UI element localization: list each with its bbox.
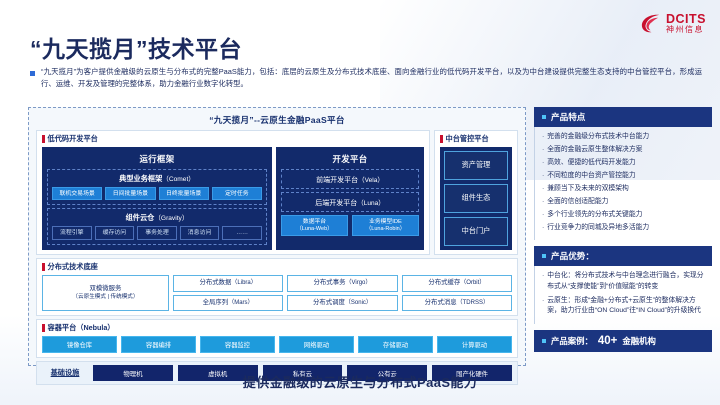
feature-text: 不同粒度的中台资产管控能力 (547, 171, 635, 182)
control-platform-section: 中台管控平台 资产管理 组件生态 中台门户 (434, 130, 518, 255)
backend-sub-row: 数据平台 （Luna-Web） 业务模型IDE （Luna-Robin） (281, 215, 419, 236)
comet-group: 典型业务框架（Comet） 联机交易场景 日间批量场景 日终批量场景 定时任务 (47, 169, 267, 205)
distributed-cache-cell[interactable]: 分布式缓存（Orbit） (402, 275, 512, 292)
feature-item: ·不同粒度的中台资产管控能力 (542, 171, 708, 182)
container-platform-section: 容器平台（Nebula） 镜像仓库 容器编排 容器监控 网络驱动 存储驱动 计算… (36, 319, 518, 358)
architecture-board: “九天揽月”--云原生金融PaaS平台 低代码开发平台 运行框架 (28, 107, 526, 366)
luna-robin-cn: 业务模型IDE (369, 219, 402, 225)
backend-dev-cn: 后端开发平台 (315, 200, 357, 207)
brand-name-en: DCITS (666, 13, 706, 26)
distributed-data-en: （Libra） (231, 279, 256, 287)
backend-dev-platform[interactable]: 后端开发平台（Luna） (281, 192, 419, 212)
comet-title: 典型业务框架（Comet） (52, 173, 262, 184)
bullet-dot-icon: · (542, 145, 544, 156)
distributed-schedule-cn: 分布式调度 (313, 299, 345, 308)
frontend-dev-cn: 前端开发平台 (316, 177, 358, 184)
feature-text: 行业竞争力的同城及异地多活能力 (547, 223, 649, 234)
feature-text: 完善的金融级分布式技术中台能力 (547, 132, 649, 143)
distributed-base-label: 分布式技术底座 (48, 262, 98, 272)
distributed-transaction-cn: 分布式事务 (314, 279, 346, 288)
distributed-cache-cn: 分布式缓存 (428, 279, 460, 288)
luna-web-chip[interactable]: 数据平台 （Luna-Web） (281, 215, 348, 236)
panel-bullet-icon (542, 339, 546, 343)
luna-robin-chip[interactable]: 业务模型IDE （Luna-Robin） (352, 215, 419, 236)
control-platform-label: 中台管控平台 (446, 134, 489, 144)
luna-web-en: （Luna-Web） (283, 226, 346, 233)
features-header: 产品特点 (534, 107, 712, 127)
distributed-message-cell[interactable]: 分布式消息（TDRSS） (402, 295, 512, 312)
feature-item: ·行业竞争力的同城及异地多活能力 (542, 223, 708, 234)
runtime-framework-title: 运行框架 (47, 151, 267, 169)
container-chip-row: 镜像仓库 容器编排 容器监控 网络驱动 存储驱动 计算驱动 (42, 336, 512, 353)
frontend-dev-platform[interactable]: 前端开发平台（Vela） (281, 169, 419, 189)
comet-title-cn: 典型业务框架 (119, 174, 162, 183)
gravity-title-cn: 组件云仓 (126, 213, 155, 222)
container-chip-orchestration[interactable]: 容器编排 (121, 336, 196, 353)
distributed-schedule-cell[interactable]: 分布式调度（Sonic） (287, 295, 397, 312)
advantage-item: ·中台化：将分布式技术与中台理念进行融合，实现分布式从“支撑使能”到“价值赋能”… (542, 271, 708, 293)
board-title: “九天揽月”--云原生金融PaaS平台 (36, 112, 518, 130)
feature-text: 多个行业领先的分布式关键能力 (547, 210, 642, 221)
lowcode-label: 低代码开发平台 (48, 134, 98, 144)
distributed-base-section: 分布式技术底座 双模微服务 （云原生模式 | 传统模式） 分布式数据 (36, 258, 518, 316)
feature-text: 全面的金融云原生整体解决方案 (547, 145, 642, 156)
container-chip-network-driver[interactable]: 网络驱动 (279, 336, 354, 353)
case-panel: 产品案例： 40+ 金融机构 (534, 330, 712, 352)
comet-chip[interactable]: 定时任务 (212, 187, 262, 200)
distributed-transaction-cell[interactable]: 分布式事务（Virgo） (287, 275, 397, 292)
case-number: 40+ (598, 335, 618, 347)
dev-platform-title: 开发平台 (281, 151, 419, 169)
feature-text: 高效、便捷的低代码开发能力 (547, 158, 635, 169)
dual-mode-cn: 双模微服务 (89, 285, 121, 292)
distributed-col: 分布式缓存（Orbit） 分布式消息（TDRSS） (402, 275, 512, 311)
feature-text: 兼顾当下及未来的双模架构 (547, 184, 629, 195)
bullet-dot-icon: · (542, 223, 544, 234)
gravity-title: 组件云仓（Gravity） (52, 212, 262, 223)
global-sequence-cn: 全局序列 (203, 299, 229, 308)
section-accent-bar-icon (42, 324, 45, 332)
gravity-chip[interactable]: …… (222, 226, 262, 239)
dcits-swirl-icon (639, 12, 662, 35)
bullet-dot-icon: · (542, 132, 544, 143)
lowcode-section: 低代码开发平台 运行框架 典型业务框架（Comet） 联机交易场景 (36, 130, 430, 255)
runtime-framework-box: 运行框架 典型业务框架（Comet） 联机交易场景 日间批量场景 日终批量场景 … (42, 147, 272, 250)
gravity-chip[interactable]: 消息访问 (180, 226, 220, 239)
distributed-cache-en: （Orbit） (460, 279, 485, 287)
brand-text: DCITS 神州信息 (666, 13, 706, 35)
advantage-text: 云原生：形成“金融+分布式+云原生”的整体解决方案，助力行业由“ON Cloud… (547, 296, 708, 318)
luna-web-cn: 数据平台 (303, 219, 326, 225)
panel-bullet-icon (542, 254, 546, 258)
control-item-component[interactable]: 组件生态 (444, 184, 508, 213)
distributed-schedule-en: （Sonic） (345, 299, 372, 307)
page-title: “九天揽月”技术平台 (30, 30, 242, 64)
features-panel: 产品特点 ·完善的金融级分布式技术中台能力 ·全面的金融云原生整体解决方案 ·高… (534, 107, 712, 240)
intro-paragraph: “九天揽月”为客户提供金融级的云原生与分布式的完整PaaS能力，包括：底层的云原… (30, 66, 702, 90)
distributed-transaction-en: （Virgo） (345, 279, 371, 287)
container-platform-label: 容器平台（Nebula） (48, 323, 115, 333)
right-panels: 产品特点 ·完善的金融级分布式技术中台能力 ·全面的金融云原生整体解决方案 ·高… (534, 107, 712, 352)
advantage-text: 中台化：将分布式技术与中台理念进行融合，实现分布式从“支撑使能”到“价值赋能”的… (547, 271, 708, 293)
comet-title-en: （Comet） (162, 176, 195, 183)
container-platform-header: 容器平台（Nebula） (42, 323, 512, 333)
gravity-chip[interactable]: 缓存访问 (95, 226, 135, 239)
gravity-chip[interactable]: 流程引擎 (52, 226, 92, 239)
bullet-dot-icon: · (542, 271, 544, 293)
comet-chip[interactable]: 日终批量场景 (159, 187, 209, 200)
features-title: 产品特点 (551, 111, 585, 123)
feature-text: 全面的信创适配能力 (547, 197, 608, 208)
distributed-grid: 双模微服务 （云原生模式 | 传统模式） 分布式数据（Libra） 全局序列（M… (42, 275, 512, 311)
bullet-dot-icon: · (542, 184, 544, 195)
control-item-asset[interactable]: 资产管理 (444, 151, 508, 180)
advantages-header: 产品优势： (534, 246, 712, 266)
panel-bullet-icon (542, 115, 546, 119)
bullet-dot-icon: · (542, 296, 544, 318)
comet-chip[interactable]: 日间批量场景 (105, 187, 155, 200)
comet-chip[interactable]: 联机交易场景 (52, 187, 102, 200)
slide-canvas: DCITS 神州信息 “九天揽月”技术平台 “九天揽月”为客户提供金融级的云原生… (0, 0, 720, 405)
intro-text: “九天揽月”为客户提供金融级的云原生与分布式的完整PaaS能力，包括：底层的云原… (41, 66, 702, 90)
gravity-group: 组件云仓（Gravity） 流程引擎 缓存访问 事务处理 消息访问 …… (47, 208, 267, 244)
advantages-title: 产品优势： (551, 250, 594, 262)
container-chip-storage-driver[interactable]: 存储驱动 (358, 336, 433, 353)
case-label: 产品案例： (551, 335, 593, 347)
control-platform-header: 中台管控平台 (440, 134, 512, 144)
features-list: ·完善的金融级分布式技术中台能力 ·全面的金融云原生整体解决方案 ·高效、便捷的… (534, 127, 712, 240)
feature-item: ·完善的金融级分布式技术中台能力 (542, 132, 708, 143)
frontend-dev-en: （Vela） (358, 177, 384, 184)
bullet-square-icon (30, 71, 35, 76)
distributed-data-cell[interactable]: 分布式数据（Libra） (173, 275, 283, 292)
footer-tagline: 提供金融级的云原生与分布式PaaS能力 (0, 372, 720, 391)
container-chip-monitoring[interactable]: 容器监控 (200, 336, 275, 353)
brand-name-cn: 神州信息 (666, 26, 706, 34)
bullet-dot-icon: · (542, 197, 544, 208)
dual-mode-microservice-cell[interactable]: 双模微服务 （云原生模式 | 传统模式） (42, 275, 169, 311)
distributed-data-cn: 分布式数据 (199, 279, 231, 288)
dev-platform-box: 开发平台 前端开发平台（Vela） 后端开发平台（Luna） 数据平台 (276, 147, 424, 250)
advantages-panel: 产品优势： ·中台化：将分布式技术与中台理念进行融合，实现分布式从“支撑使能”到… (534, 246, 712, 324)
distributed-base-header: 分布式技术底座 (42, 262, 512, 272)
lowcode-header: 低代码开发平台 (42, 134, 424, 144)
section-accent-bar-icon (42, 135, 45, 143)
brand-logo: DCITS 神州信息 (639, 12, 706, 35)
feature-item: ·全面的信创适配能力 (542, 197, 708, 208)
advantages-list: ·中台化：将分布式技术与中台理念进行融合，实现分布式从“支撑使能”到“价值赋能”… (534, 266, 712, 324)
case-suffix: 金融机构 (622, 335, 656, 347)
dual-mode-en: （云原生模式 | 传统模式） (72, 294, 138, 302)
section-accent-bar-icon (42, 263, 45, 271)
distributed-message-en: （TDRSS） (457, 299, 489, 307)
gravity-chip[interactable]: 事务处理 (137, 226, 177, 239)
section-accent-bar-icon (440, 135, 443, 143)
feature-item: ·高效、便捷的低代码开发能力 (542, 158, 708, 169)
luna-robin-en: （Luna-Robin） (354, 226, 417, 233)
distributed-col: 分布式事务（Virgo） 分布式调度（Sonic） (287, 275, 397, 311)
distributed-col: 分布式数据（Libra） 全局序列（Mars） (173, 275, 283, 311)
global-sequence-en: （Mars） (228, 299, 253, 307)
container-chip-image-repo[interactable]: 镜像仓库 (42, 336, 117, 353)
bullet-dot-icon: · (542, 210, 544, 221)
gravity-chip-row: 流程引擎 缓存访问 事务处理 消息访问 …… (52, 226, 262, 239)
feature-item: ·兼顾当下及未来的双模架构 (542, 184, 708, 195)
advantage-item: ·云原生：形成“金融+分布式+云原生”的整体解决方案，助力行业由“ON Clou… (542, 296, 708, 318)
bullet-dot-icon: · (542, 158, 544, 169)
control-platform-items: 资产管理 组件生态 中台门户 (440, 147, 512, 250)
comet-chip-row: 联机交易场景 日间批量场景 日终批量场景 定时任务 (52, 187, 262, 200)
backend-dev-en: （Luna） (357, 200, 384, 207)
feature-item: ·多个行业领先的分布式关键能力 (542, 210, 708, 221)
bullet-dot-icon: · (542, 171, 544, 182)
container-chip-compute-driver[interactable]: 计算驱动 (437, 336, 512, 353)
gravity-title-en: （Gravity） (154, 215, 188, 222)
feature-item: ·全面的金融云原生整体解决方案 (542, 145, 708, 156)
control-item-portal[interactable]: 中台门户 (444, 217, 508, 246)
distributed-message-cn: 分布式消息 (425, 299, 457, 308)
global-sequence-cell[interactable]: 全局序列（Mars） (173, 295, 283, 312)
platform-row: 低代码开发平台 运行框架 典型业务框架（Comet） 联机交易场景 (36, 130, 518, 255)
